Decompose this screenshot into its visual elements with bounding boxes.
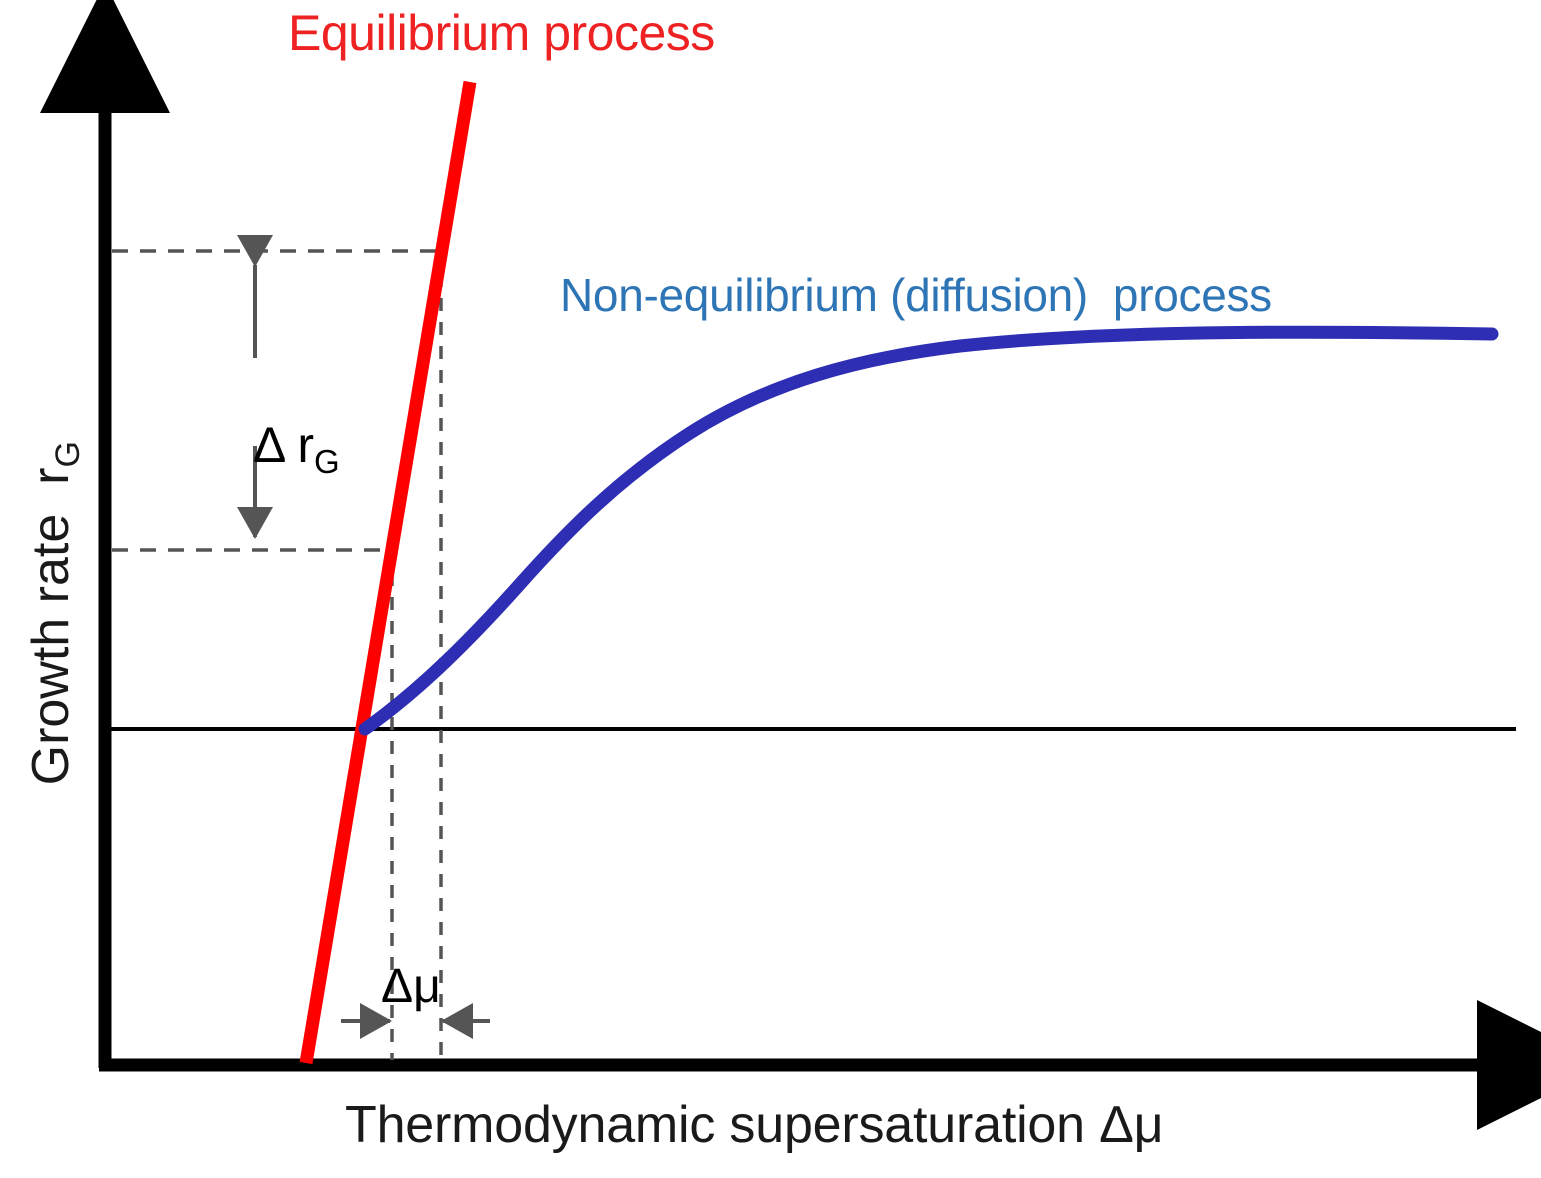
equilibrium-process-label: Equilibrium process bbox=[288, 8, 715, 58]
delta-mu-label: Δμ bbox=[381, 963, 441, 1011]
non-equilibrium-process-label: Non-equilibrium (diffusion) process bbox=[560, 272, 1272, 318]
x-axis-label: Thermodynamic supersaturation Δμ bbox=[345, 1099, 1163, 1151]
non-equilibrium-process-curve bbox=[365, 332, 1492, 729]
figure-canvas: Equilibrium process Non-equilibrium (dif… bbox=[0, 0, 1541, 1178]
delta-rg-label-main: Δ r bbox=[253, 417, 314, 473]
y-axis-label: Growth rate rG bbox=[0, 432, 137, 852]
delta-rg-label-subscript: G bbox=[314, 443, 340, 480]
y-axis-label-main: Growth rate r bbox=[22, 468, 80, 786]
delta-rg-label: Δ rG bbox=[200, 370, 340, 528]
plot-area bbox=[0, 0, 1541, 1178]
equilibrium-process-line bbox=[306, 82, 470, 1063]
y-axis-label-subscript: G bbox=[49, 441, 87, 467]
